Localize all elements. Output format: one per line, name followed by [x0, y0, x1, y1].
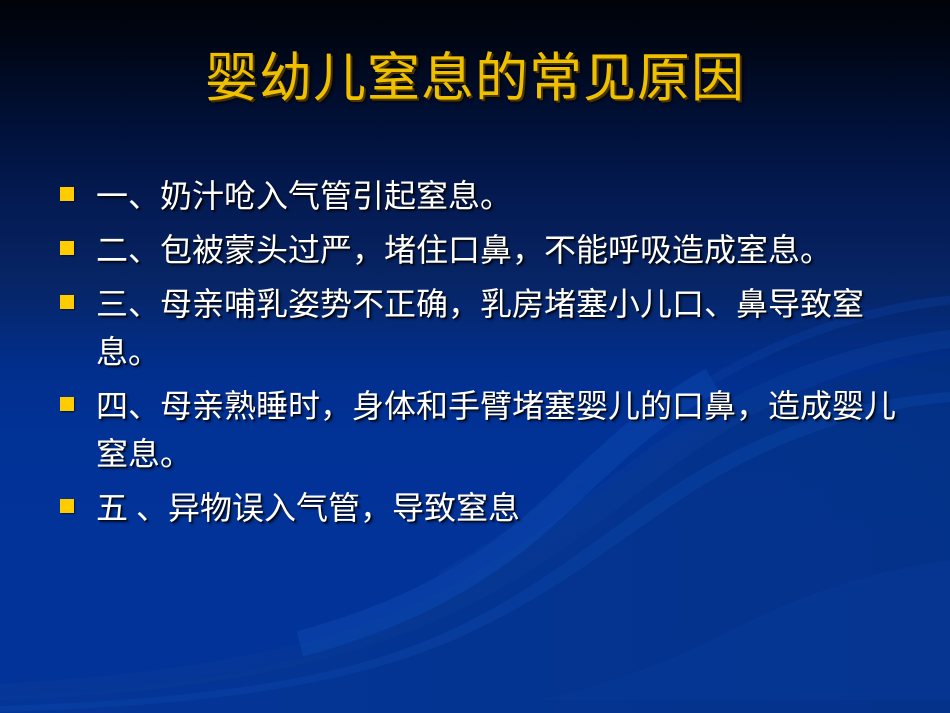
list-item: 一、奶汁呛入气管引起窒息。 [52, 172, 914, 220]
page-title: 婴幼儿窒息的常见原因 [205, 48, 745, 110]
list-item: 三、母亲哺乳姿势不正确，乳房堵塞小儿口、鼻导致窒息。 [52, 280, 914, 376]
list-item: 四、母亲熟睡时，身体和手臂堵塞婴儿的口鼻，造成婴儿窒息。 [52, 382, 914, 478]
list-item-label: 五 、异物误入气管，导致窒息 [96, 484, 914, 532]
list-item: 五 、异物误入气管，导致窒息 [52, 484, 914, 532]
list-item: 二、包被蒙头过严，堵住口鼻，不能呼吸造成室息。 [52, 226, 914, 274]
square-bullet-icon [60, 187, 74, 201]
square-bullet-icon [60, 295, 74, 309]
slide-title-block: 婴幼儿窒息的常见原因 [0, 48, 950, 110]
square-bullet-icon [60, 499, 74, 513]
list-item-label: 三、母亲哺乳姿势不正确，乳房堵塞小儿口、鼻导致窒息。 [96, 280, 914, 376]
presentation-slide: 婴幼儿窒息的常见原因 一、奶汁呛入气管引起窒息。 二、包被蒙头过严，堵住口鼻，不… [0, 0, 950, 713]
square-bullet-icon [60, 241, 74, 255]
square-bullet-icon [60, 397, 74, 411]
list-item-label: 二、包被蒙头过严，堵住口鼻，不能呼吸造成室息。 [96, 226, 914, 274]
swoosh-edge-wedge [540, 560, 950, 700]
list-item-label: 一、奶汁呛入气管引起窒息。 [96, 172, 914, 220]
list-item-label: 四、母亲熟睡时，身体和手臂堵塞婴儿的口鼻，造成婴儿窒息。 [96, 382, 914, 478]
bullet-list: 一、奶汁呛入气管引起窒息。 二、包被蒙头过严，堵住口鼻，不能呼吸造成室息。 三、… [52, 172, 914, 538]
